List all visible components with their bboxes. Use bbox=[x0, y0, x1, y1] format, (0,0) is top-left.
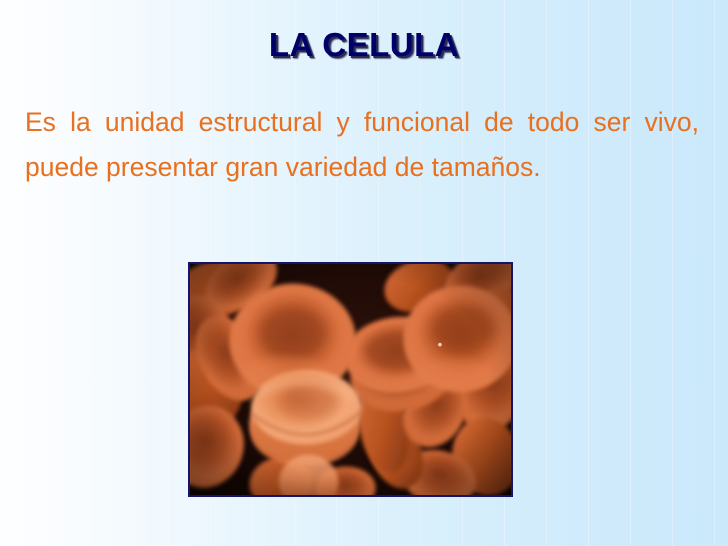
body-paragraph: Es la unidad estructural y funcional de … bbox=[25, 100, 699, 190]
slide-canvas: LA CELULA Es la unidad estructural y fun… bbox=[0, 0, 728, 546]
red-blood-cells-image bbox=[188, 262, 513, 497]
micrograph-illustration bbox=[190, 264, 511, 495]
page-title: LA CELULA bbox=[0, 26, 728, 64]
